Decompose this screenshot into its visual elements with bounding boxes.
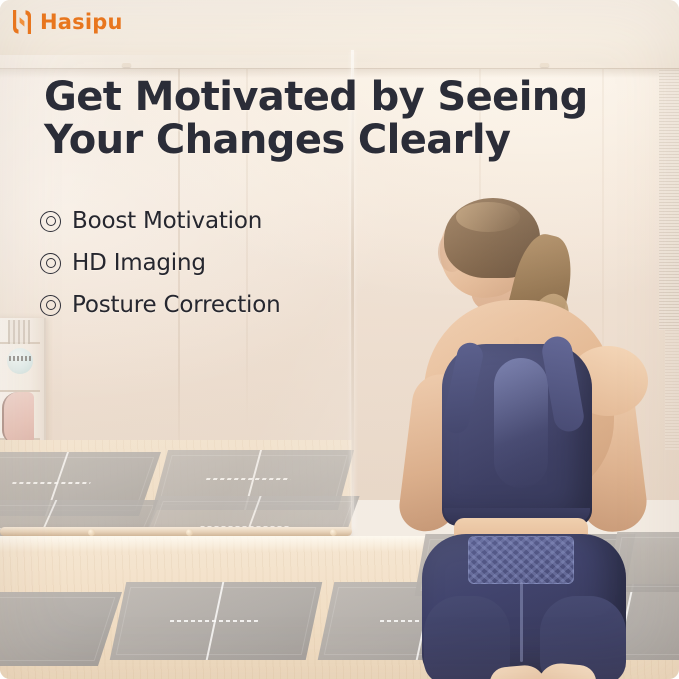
headline-line-2: Your Changes Clearly	[44, 119, 604, 162]
list-item: HD Imaging	[40, 242, 281, 284]
product-lifestyle-banner: Hasipu Get Motivated by Seeing Your Chan…	[0, 0, 679, 679]
brand-logo[interactable]: Hasipu	[10, 8, 123, 36]
ballet-barre	[0, 527, 352, 536]
model-hair-highlight	[456, 202, 520, 232]
brand-name: Hasipu	[40, 12, 123, 33]
barre-bracket	[88, 529, 95, 536]
double-circle-bullet-icon	[40, 253, 61, 274]
tank-top-sheen	[494, 358, 548, 488]
barre-bracket	[330, 529, 337, 536]
yoga-mat	[110, 582, 323, 660]
feature-label: HD Imaging	[72, 250, 206, 276]
barre-bracket	[186, 529, 193, 536]
list-item: Boost Motivation	[40, 200, 281, 242]
cabinet-knob	[540, 63, 549, 67]
hasipu-h-monogram-icon	[10, 8, 34, 36]
feature-label: Boost Motivation	[72, 208, 262, 234]
feature-list: Boost Motivation HD Imaging Posture Corr…	[40, 200, 281, 326]
headline-line-1: Get Motivated by Seeing	[44, 74, 588, 120]
model-leg	[424, 596, 510, 679]
model-kneeling	[398, 196, 679, 679]
feature-label: Posture Correction	[72, 292, 281, 318]
list-item: Posture Correction	[40, 284, 281, 326]
double-circle-bullet-icon	[40, 295, 61, 316]
leggings-seam	[520, 582, 523, 662]
leggings-patterned-waistband	[468, 536, 574, 584]
page-title: Get Motivated by Seeing Your Changes Cle…	[44, 76, 604, 162]
double-circle-bullet-icon	[40, 211, 61, 232]
